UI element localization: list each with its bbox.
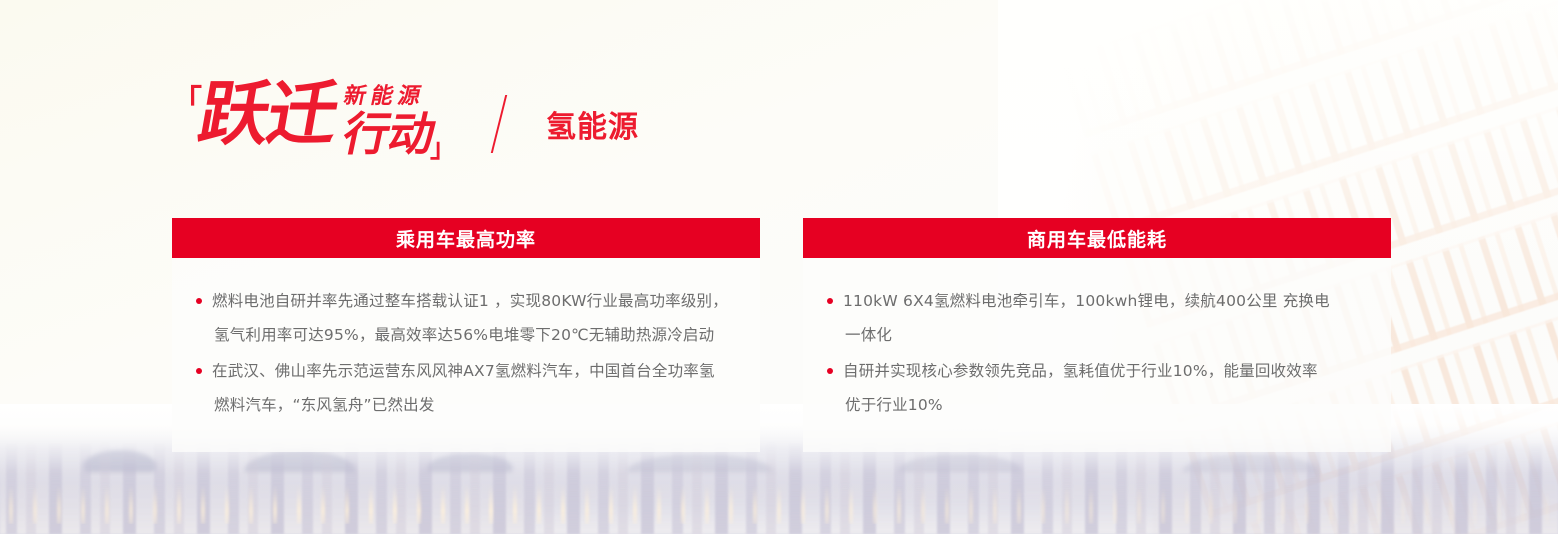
logo-main-text: 跃迁 (194, 81, 342, 148)
bullet-line: 优于行业10% (843, 388, 1369, 422)
card-body: 110kW 6X4氢燃料电池牵引车，100kwh锂电，续航400公里 充换电 一… (803, 258, 1391, 452)
bullet-line: 燃料电池自研并率先通过整车搭载认证1 ，实现80KW行业最高功率级别， (212, 284, 738, 318)
logo-sub-top-text: 新能源 (341, 85, 436, 109)
bullet-dot-icon (196, 298, 202, 304)
bullet-dot-icon (827, 368, 833, 374)
card-passenger-vehicle: 乘用车最高功率 燃料电池自研并率先通过整车搭载认证1 ，实现80KW行业最高功率… (172, 218, 760, 452)
list-item: 110kW 6X4氢燃料电池牵引车，100kwh锂电，续航400公里 充换电 一… (825, 284, 1369, 352)
bullet-line: 在武汉、佛山率先示范运营东风风神AX7氢燃料汽车，中国首台全功率氢 (212, 354, 738, 388)
header-slash-divider-icon (491, 95, 507, 153)
bullet-line: 110kW 6X4氢燃料电池牵引车，100kwh锂电，续航400公里 充换电 (843, 284, 1369, 318)
bullet-line: 一体化 (843, 318, 1369, 352)
list-item: 自研并实现核心参数领先竞品，氢耗值优于行业10%，能量回收效率 优于行业10% (825, 354, 1369, 422)
bullet-list: 110kW 6X4氢燃料电池牵引车，100kwh锂电，续航400公里 充换电 一… (825, 284, 1369, 422)
logo-secondary-group: 新能源 行动 (344, 85, 434, 157)
logo-sub-bottom-text: 行动 (339, 111, 439, 157)
logo-open-bracket-icon: 「 (172, 87, 202, 117)
bullet-dot-icon (827, 298, 833, 304)
card-title: 乘用车最高功率 (172, 218, 760, 258)
page-root: 「 跃迁 新能源 行动 」 氢能源 乘用车最高功率 燃料电池自研并率先通过整车搭… (0, 0, 1558, 534)
card-title: 商用车最低能耗 (803, 218, 1391, 258)
list-item: 燃料电池自研并率先通过整车搭载认证1 ，实现80KW行业最高功率级别， 氢气利用… (194, 284, 738, 352)
bullet-line: 自研并实现核心参数领先竞品，氢耗值优于行业10%，能量回收效率 (843, 354, 1369, 388)
list-item: 在武汉、佛山率先示范运营东风风神AX7氢燃料汽车，中国首台全功率氢 燃料汽车，“… (194, 354, 738, 422)
page-header: 「 跃迁 新能源 行动 」 氢能源 (172, 74, 639, 174)
card-commercial-vehicle: 商用车最低能耗 110kW 6X4氢燃料电池牵引车，100kwh锂电，续航400… (803, 218, 1391, 452)
bullet-line: 氢气利用率可达95%，最高效率达56%电堆零下20℃无辅助热源冷启动 (212, 318, 738, 352)
brand-logo: 「 跃迁 新能源 行动 」 (172, 79, 456, 169)
bullet-dot-icon (196, 368, 202, 374)
bullet-list: 燃料电池自研并率先通过整车搭载认证1 ，实现80KW行业最高功率级别， 氢气利用… (194, 284, 738, 422)
bullet-line: 燃料汽车，“东风氢舟”已然出发 (212, 388, 738, 422)
header-subtitle: 氢能源 (546, 102, 639, 146)
card-body: 燃料电池自研并率先通过整车搭载认证1 ，实现80KW行业最高功率级别， 氢气利用… (172, 258, 760, 452)
